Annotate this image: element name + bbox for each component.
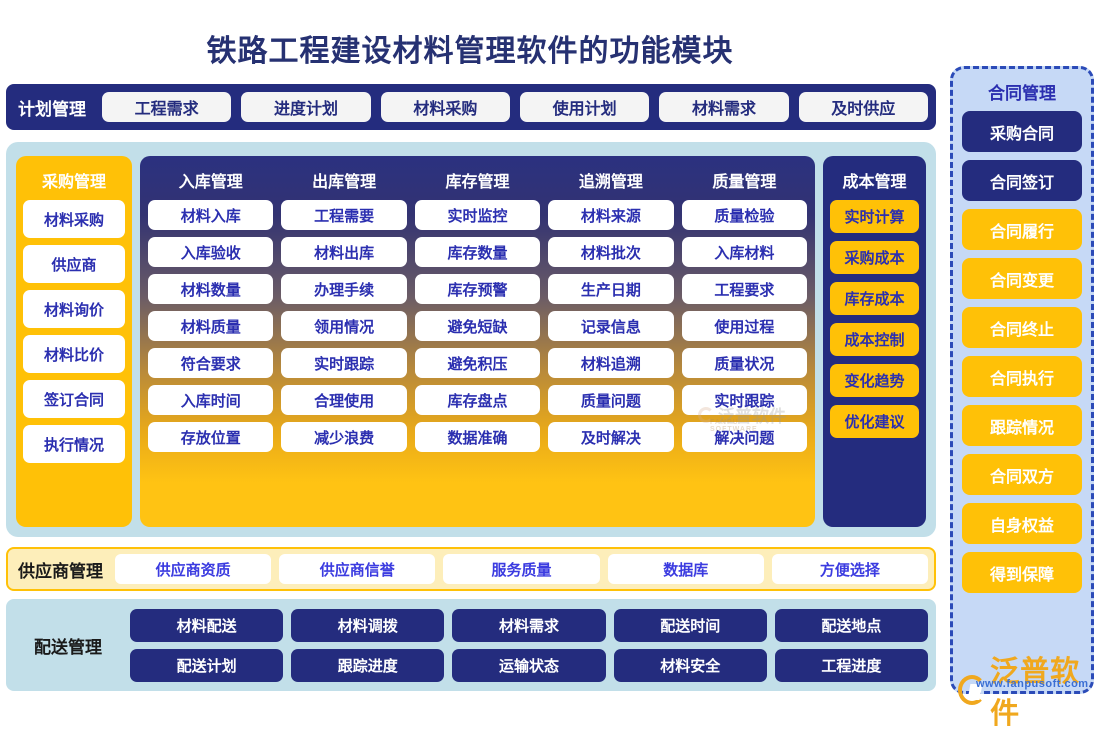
distribution-management-row: 配送管理 材料配送 配送计划 材料调拨 跟踪进度 材料需求 运输状态 配送时间 … bbox=[6, 599, 936, 691]
distribution-column-2: 材料需求 运输状态 bbox=[452, 609, 605, 682]
contract-item-4[interactable]: 合同终止 bbox=[962, 307, 1082, 348]
traceability-item-3[interactable]: 记录信息 bbox=[548, 311, 673, 341]
quality-item-0[interactable]: 质量检验 bbox=[682, 200, 807, 230]
outbound-item-0[interactable]: 工程需要 bbox=[281, 200, 406, 230]
outbound-item-3[interactable]: 领用情况 bbox=[281, 311, 406, 341]
plan-item-5[interactable]: 及时供应 bbox=[799, 92, 928, 122]
supplier-item-4[interactable]: 方便选择 bbox=[772, 554, 928, 584]
quality-management-label: 质量管理 bbox=[682, 162, 807, 200]
cost-item-4[interactable]: 变化趋势 bbox=[830, 364, 919, 397]
inventory-item-6[interactable]: 数据准确 bbox=[415, 422, 540, 452]
supplier-management-row: 供应商管理 供应商资质 供应商信誉 服务质量 数据库 方便选择 bbox=[6, 547, 936, 591]
contract-item-5[interactable]: 合同执行 bbox=[962, 356, 1082, 397]
traceability-item-2[interactable]: 生产日期 bbox=[548, 274, 673, 304]
traceability-item-5[interactable]: 质量问题 bbox=[548, 385, 673, 415]
distribution-column-1: 材料调拨 跟踪进度 bbox=[291, 609, 444, 682]
quality-item-1[interactable]: 入库材料 bbox=[682, 237, 807, 267]
distribution-item-4-0[interactable]: 配送地点 bbox=[775, 609, 928, 642]
inventory-management-label: 库存管理 bbox=[415, 162, 540, 200]
purchase-item-2[interactable]: 材料询价 bbox=[23, 290, 125, 328]
contract-item-7[interactable]: 合同双方 bbox=[962, 454, 1082, 495]
plan-item-4[interactable]: 材料需求 bbox=[659, 92, 788, 122]
inbound-management-label: 入库管理 bbox=[148, 162, 273, 200]
distribution-management-label: 配送管理 bbox=[14, 633, 122, 658]
supplier-item-0[interactable]: 供应商资质 bbox=[115, 554, 271, 584]
outbound-item-5[interactable]: 合理使用 bbox=[281, 385, 406, 415]
cost-item-1[interactable]: 采购成本 bbox=[830, 241, 919, 274]
traceability-item-1[interactable]: 材料批次 bbox=[548, 237, 673, 267]
plan-item-3[interactable]: 使用计划 bbox=[520, 92, 649, 122]
main-modules-container: 采购管理 材料采购 供应商 材料询价 材料比价 签订合同 执行情况 入库管理 材… bbox=[6, 142, 936, 537]
traceability-item-4[interactable]: 材料追溯 bbox=[548, 348, 673, 378]
inventory-item-5[interactable]: 库存盘点 bbox=[415, 385, 540, 415]
inbound-management-column: 入库管理 材料入库 入库验收 材料数量 材料质量 符合要求 入库时间 存放位置 bbox=[148, 162, 273, 517]
outbound-item-4[interactable]: 实时跟踪 bbox=[281, 348, 406, 378]
inbound-item-0[interactable]: 材料入库 bbox=[148, 200, 273, 230]
supplier-item-1[interactable]: 供应商信誉 bbox=[279, 554, 435, 584]
contract-management-label: 合同管理 bbox=[962, 75, 1082, 111]
outbound-item-1[interactable]: 材料出库 bbox=[281, 237, 406, 267]
distribution-item-3-0[interactable]: 配送时间 bbox=[614, 609, 767, 642]
quality-item-3[interactable]: 使用过程 bbox=[682, 311, 807, 341]
cost-item-2[interactable]: 库存成本 bbox=[830, 282, 919, 315]
distribution-item-4-1[interactable]: 工程进度 bbox=[775, 649, 928, 682]
distribution-item-3-1[interactable]: 材料安全 bbox=[614, 649, 767, 682]
supplier-item-2[interactable]: 服务质量 bbox=[443, 554, 599, 584]
quality-item-4[interactable]: 质量状况 bbox=[682, 348, 807, 378]
supplier-management-label: 供应商管理 bbox=[14, 557, 107, 582]
outbound-management-column: 出库管理 工程需要 材料出库 办理手续 领用情况 实时跟踪 合理使用 减少浪费 bbox=[281, 162, 406, 517]
plan-management-bar: 计划管理 工程需求 进度计划 材料采购 使用计划 材料需求 及时供应 bbox=[6, 84, 936, 130]
contract-item-8[interactable]: 自身权益 bbox=[962, 503, 1082, 544]
distribution-item-0-0[interactable]: 材料配送 bbox=[130, 609, 283, 642]
inbound-item-5[interactable]: 入库时间 bbox=[148, 385, 273, 415]
outbound-management-label: 出库管理 bbox=[281, 162, 406, 200]
traceability-item-0[interactable]: 材料来源 bbox=[548, 200, 673, 230]
inventory-item-0[interactable]: 实时监控 bbox=[415, 200, 540, 230]
quality-management-column: 质量管理 质量检验 入库材料 工程要求 使用过程 质量状况 实时跟踪 解决问题 bbox=[682, 162, 807, 517]
contract-item-1[interactable]: 合同签订 bbox=[962, 160, 1082, 201]
quality-item-5[interactable]: 实时跟踪 bbox=[682, 385, 807, 415]
inbound-item-6[interactable]: 存放位置 bbox=[148, 422, 273, 452]
inbound-item-2[interactable]: 材料数量 bbox=[148, 274, 273, 304]
inventory-item-3[interactable]: 避免短缺 bbox=[415, 311, 540, 341]
distribution-item-1-0[interactable]: 材料调拨 bbox=[291, 609, 444, 642]
plan-management-label: 计划管理 bbox=[14, 95, 92, 120]
cost-item-3[interactable]: 成本控制 bbox=[830, 323, 919, 356]
purchase-management-label: 采购管理 bbox=[23, 162, 125, 200]
contract-item-9[interactable]: 得到保障 bbox=[962, 552, 1082, 593]
purchase-item-3[interactable]: 材料比价 bbox=[23, 335, 125, 373]
distribution-item-1-1[interactable]: 跟踪进度 bbox=[291, 649, 444, 682]
contract-item-6[interactable]: 跟踪情况 bbox=[962, 405, 1082, 446]
distribution-column-3: 配送时间 材料安全 bbox=[614, 609, 767, 682]
distribution-item-2-1[interactable]: 运输状态 bbox=[452, 649, 605, 682]
inventory-item-1[interactable]: 库存数量 bbox=[415, 237, 540, 267]
contract-item-0[interactable]: 采购合同 bbox=[962, 111, 1082, 152]
inbound-item-3[interactable]: 材料质量 bbox=[148, 311, 273, 341]
purchase-management-column: 采购管理 材料采购 供应商 材料询价 材料比价 签订合同 执行情况 bbox=[16, 156, 132, 527]
contract-item-2[interactable]: 合同履行 bbox=[962, 209, 1082, 250]
contract-item-3[interactable]: 合同变更 bbox=[962, 258, 1082, 299]
center-modules-panel: 入库管理 材料入库 入库验收 材料数量 材料质量 符合要求 入库时间 存放位置 … bbox=[140, 156, 815, 527]
purchase-item-4[interactable]: 签订合同 bbox=[23, 380, 125, 418]
purchase-item-0[interactable]: 材料采购 bbox=[23, 200, 125, 238]
distribution-column-0: 材料配送 配送计划 bbox=[130, 609, 283, 682]
page-title: 铁路工程建设材料管理软件的功能模块 bbox=[0, 26, 940, 70]
contract-management-column: 合同管理 采购合同 合同签订 合同履行 合同变更 合同终止 合同执行 跟踪情况 … bbox=[950, 66, 1094, 694]
distribution-item-0-1[interactable]: 配送计划 bbox=[130, 649, 283, 682]
traceability-management-column: 追溯管理 材料来源 材料批次 生产日期 记录信息 材料追溯 质量问题 及时解决 bbox=[548, 162, 673, 517]
cost-management-label: 成本管理 bbox=[830, 162, 919, 200]
inventory-management-column: 库存管理 实时监控 库存数量 库存预警 避免短缺 避免积压 库存盘点 数据准确 bbox=[415, 162, 540, 517]
purchase-item-5[interactable]: 执行情况 bbox=[23, 425, 125, 463]
infographic-root: 铁路工程建设材料管理软件的功能模块 计划管理 工程需求 进度计划 材料采购 使用… bbox=[0, 0, 1100, 700]
cost-item-5[interactable]: 优化建议 bbox=[830, 405, 919, 438]
cost-item-0[interactable]: 实时计算 bbox=[830, 200, 919, 233]
inbound-item-4[interactable]: 符合要求 bbox=[148, 348, 273, 378]
inbound-item-1[interactable]: 入库验收 bbox=[148, 237, 273, 267]
plan-item-0[interactable]: 工程需求 bbox=[102, 92, 231, 122]
quality-item-2[interactable]: 工程要求 bbox=[682, 274, 807, 304]
inventory-item-4[interactable]: 避免积压 bbox=[415, 348, 540, 378]
outbound-item-2[interactable]: 办理手续 bbox=[281, 274, 406, 304]
inventory-item-2[interactable]: 库存预警 bbox=[415, 274, 540, 304]
cost-management-column: 成本管理 实时计算 采购成本 库存成本 成本控制 变化趋势 优化建议 bbox=[823, 156, 926, 527]
plan-item-2[interactable]: 材料采购 bbox=[381, 92, 510, 122]
outbound-item-6[interactable]: 减少浪费 bbox=[281, 422, 406, 452]
purchase-item-1[interactable]: 供应商 bbox=[23, 245, 125, 283]
distribution-item-2-0[interactable]: 材料需求 bbox=[452, 609, 605, 642]
quality-item-6[interactable]: 解决问题 bbox=[682, 422, 807, 452]
traceability-management-label: 追溯管理 bbox=[548, 162, 673, 200]
traceability-item-6[interactable]: 及时解决 bbox=[548, 422, 673, 452]
plan-item-1[interactable]: 进度计划 bbox=[241, 92, 370, 122]
distribution-column-4: 配送地点 工程进度 bbox=[775, 609, 928, 682]
supplier-item-3[interactable]: 数据库 bbox=[608, 554, 764, 584]
